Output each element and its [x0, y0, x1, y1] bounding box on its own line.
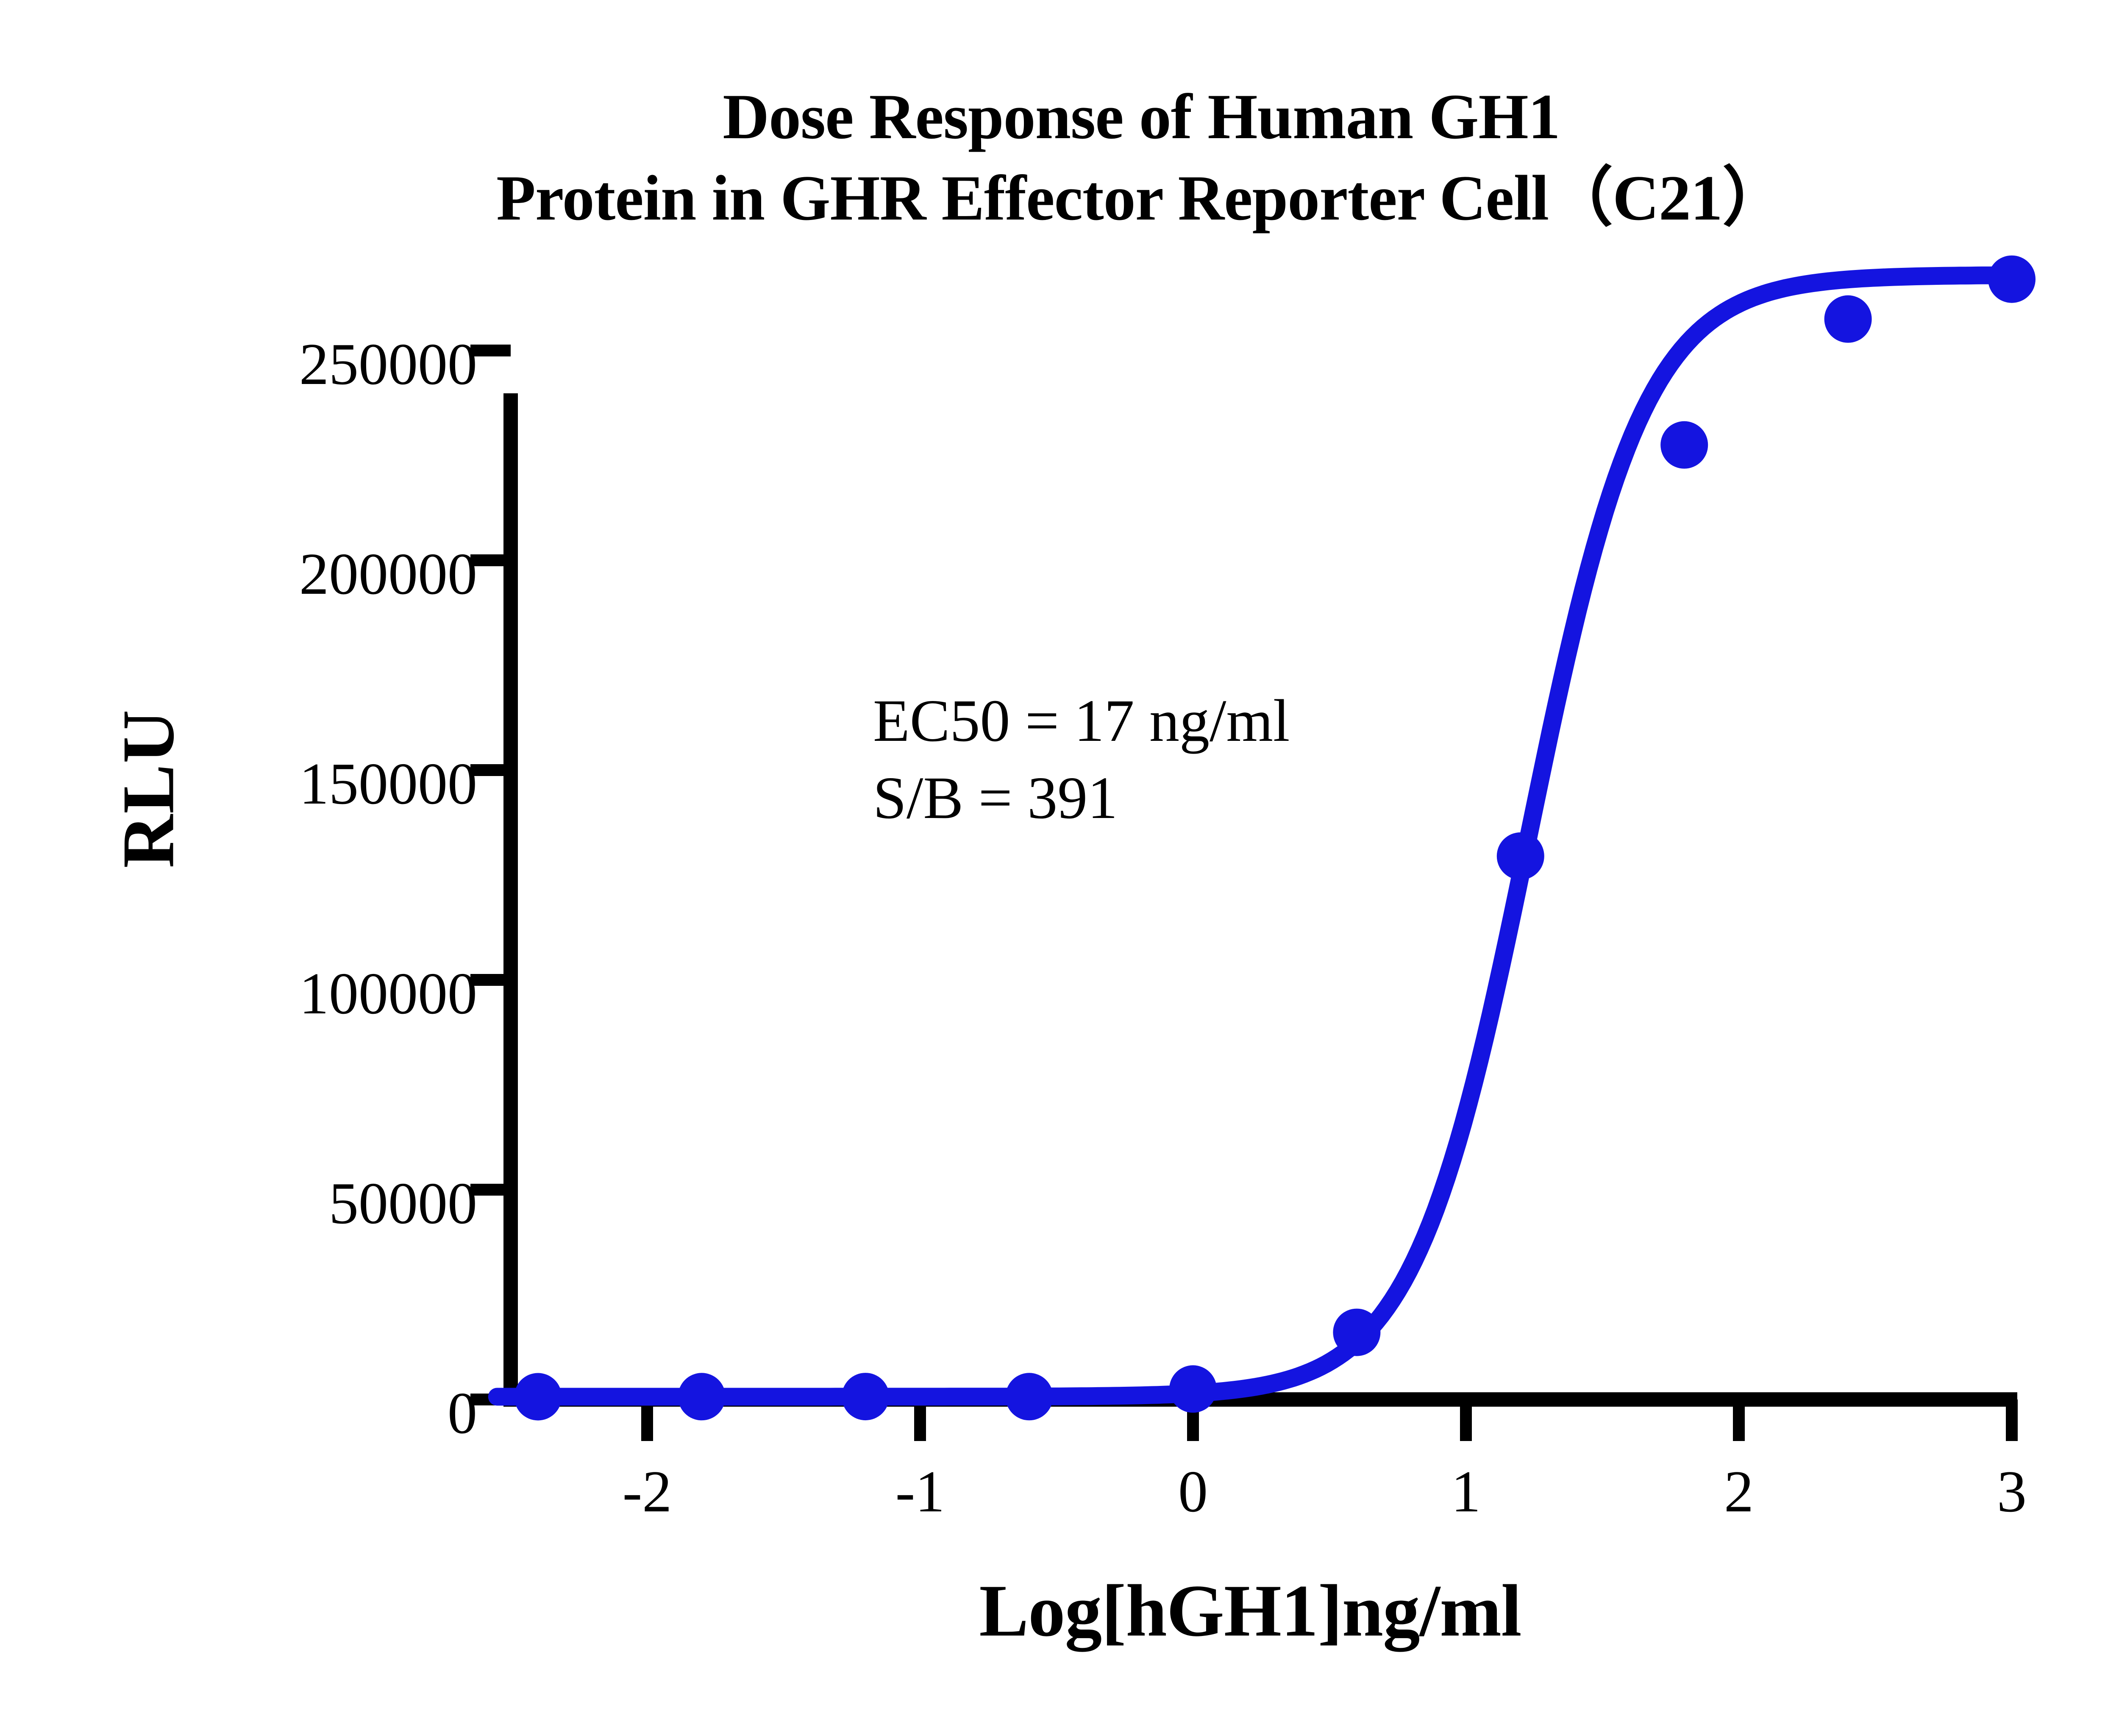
chart-figure: Dose Response of Human GH1 Protein in GH… [0, 0, 2119, 1736]
plot-area [0, 0, 2119, 1736]
data-point [1333, 1309, 1380, 1356]
data-point [842, 1373, 889, 1420]
data-point [678, 1373, 726, 1420]
data-point [1988, 256, 2036, 303]
dose-response-fit-curve [497, 275, 2015, 1397]
axis-lines [503, 393, 2017, 1399]
data-point [1497, 832, 1544, 880]
data-point [1824, 295, 1872, 343]
data-point [1006, 1373, 1053, 1420]
data-point-group [514, 256, 2036, 1421]
data-point [1660, 421, 1708, 469]
fit-curve-group [497, 275, 2015, 1397]
data-point [1169, 1365, 1217, 1413]
data-point [514, 1373, 562, 1421]
